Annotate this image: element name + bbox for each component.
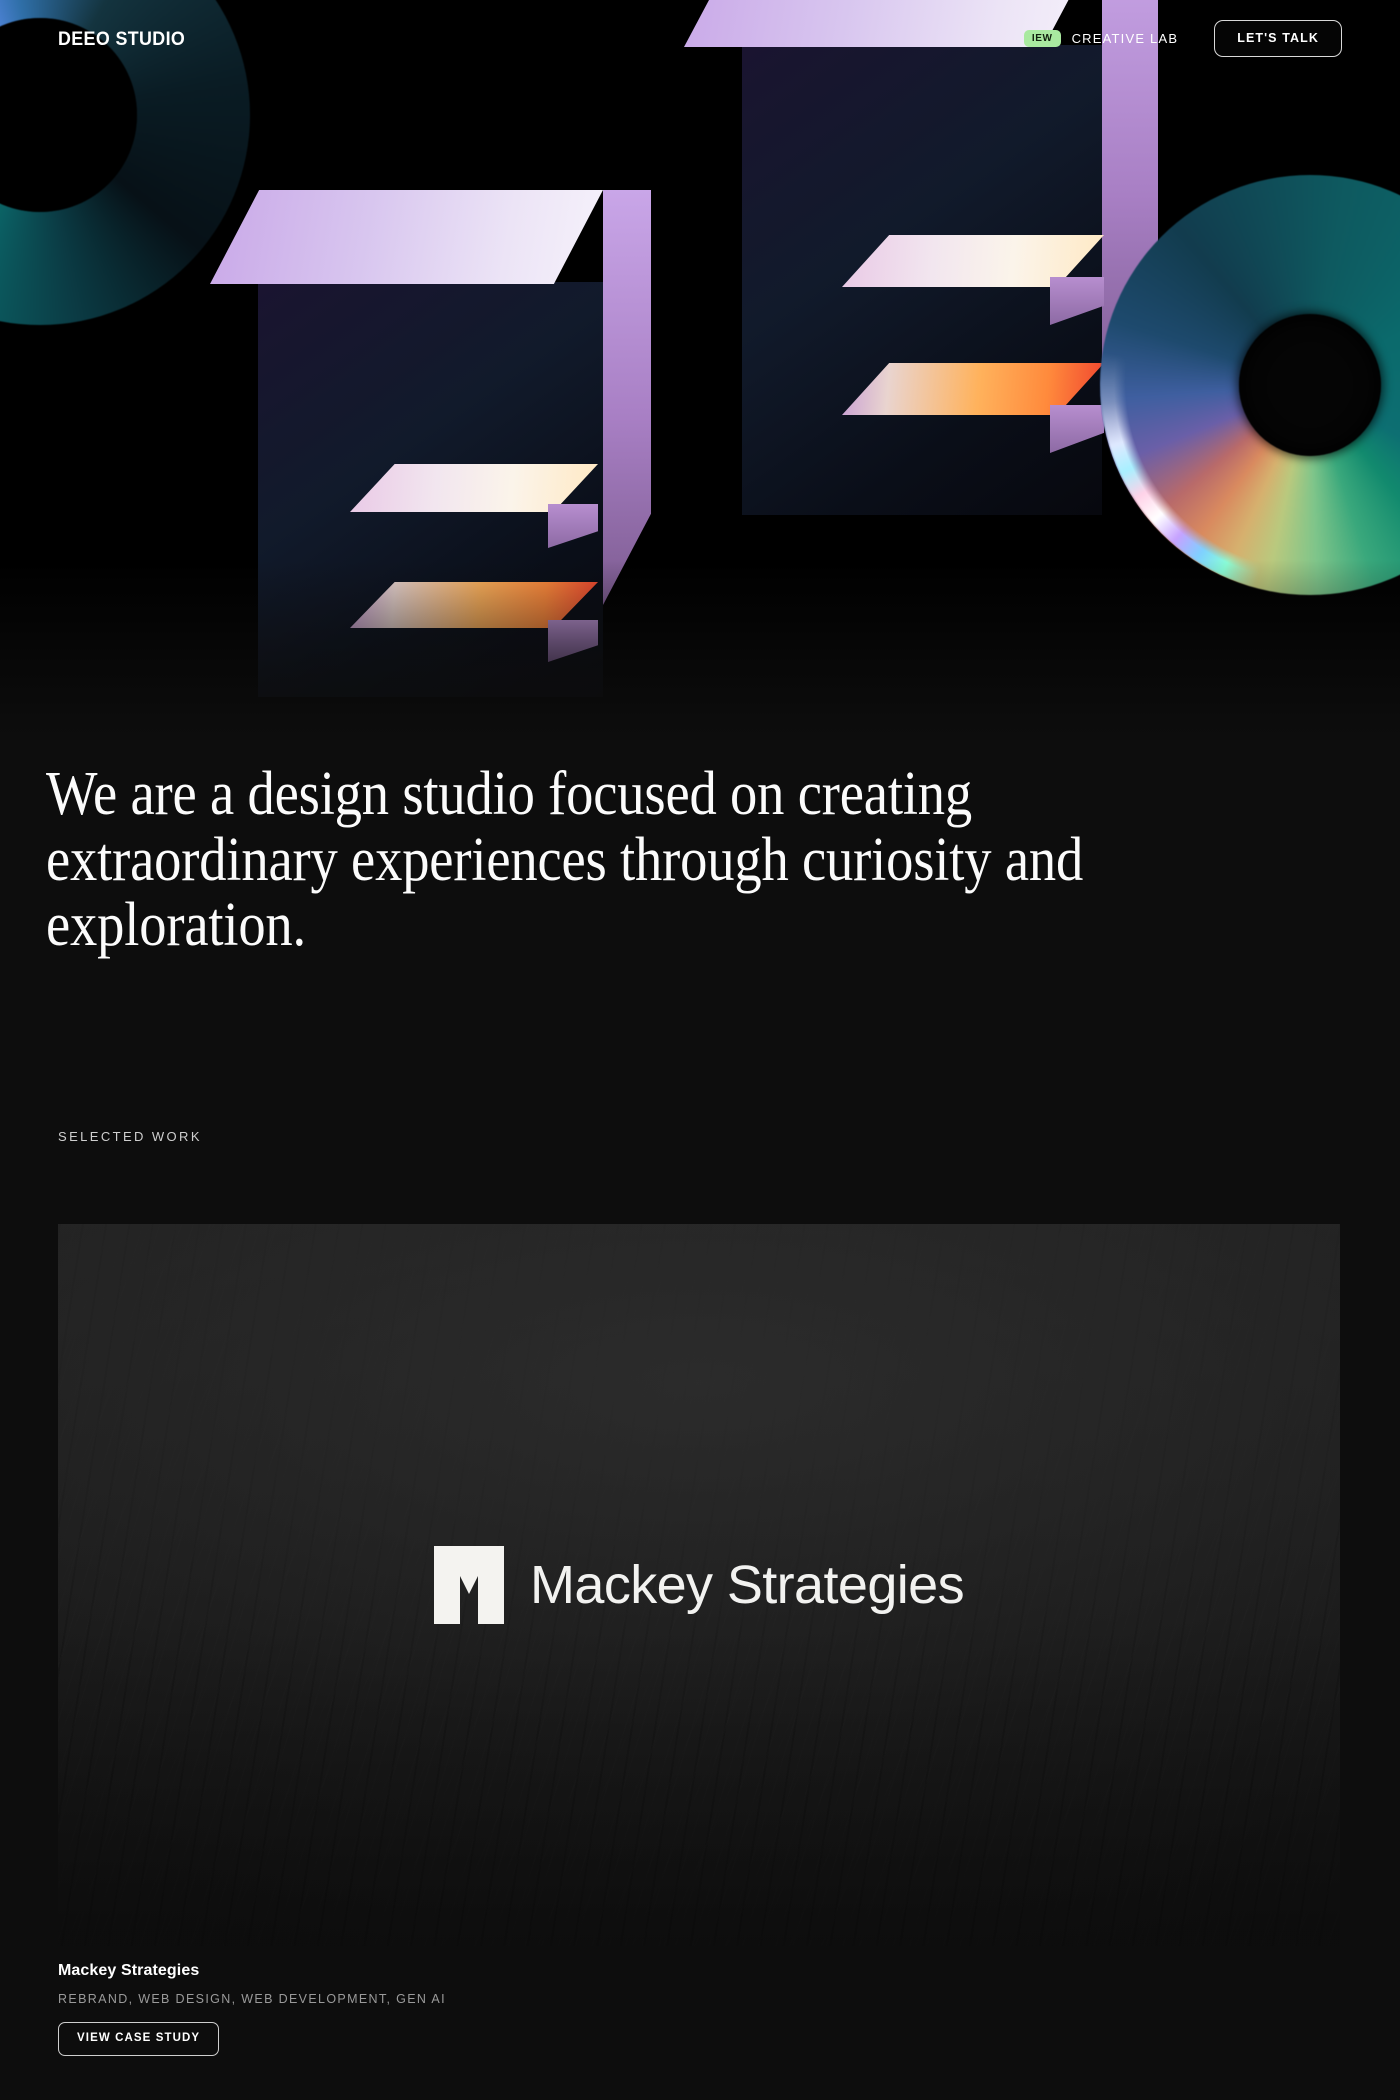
nav-right-group: IEW CREATIVE LAB LET'S TALK xyxy=(1024,20,1342,57)
hero-letter-e-second-icon xyxy=(742,45,1102,515)
project-tags: REBRAND, WEB DESIGN, WEB DEVELOPMENT, GE… xyxy=(58,1992,446,2006)
top-navigation: DEEO STUDIO IEW CREATIVE LAB LET'S TALK xyxy=(0,0,1400,78)
hero-headline: We are a design studio focused on creati… xyxy=(46,762,1146,959)
project-card-mackey-strategies[interactable]: Mackey Strategies xyxy=(58,1224,1340,1946)
e-top-face xyxy=(210,190,603,284)
selected-work-label: SELECTED WORK xyxy=(58,1129,202,1144)
creative-lab-label: CREATIVE LAB xyxy=(1072,31,1179,46)
hero-visual xyxy=(0,0,1400,760)
e-side-face xyxy=(603,190,651,605)
lets-talk-button[interactable]: LET'S TALK xyxy=(1214,20,1342,57)
project-title: Mackey Strategies xyxy=(58,1962,199,1980)
mackey-m-monogram-icon xyxy=(434,1546,504,1624)
hero-bottom-fade xyxy=(0,560,1400,760)
card-logo-lockup: Mackey Strategies xyxy=(58,1224,1340,1946)
landing-page: DEEO STUDIO IEW CREATIVE LAB LET'S TALK … xyxy=(0,0,1400,2100)
card-logo-wordmark: Mackey Strategies xyxy=(530,1554,964,1616)
brand-logo[interactable]: DEEO STUDIO xyxy=(58,29,185,51)
creative-lab-link[interactable]: IEW CREATIVE LAB xyxy=(1024,30,1178,47)
view-case-study-button[interactable]: VIEW CASE STUDY xyxy=(58,2022,219,2056)
hero-letter-e-first-icon xyxy=(258,282,603,697)
status-badge: IEW xyxy=(1024,30,1061,47)
